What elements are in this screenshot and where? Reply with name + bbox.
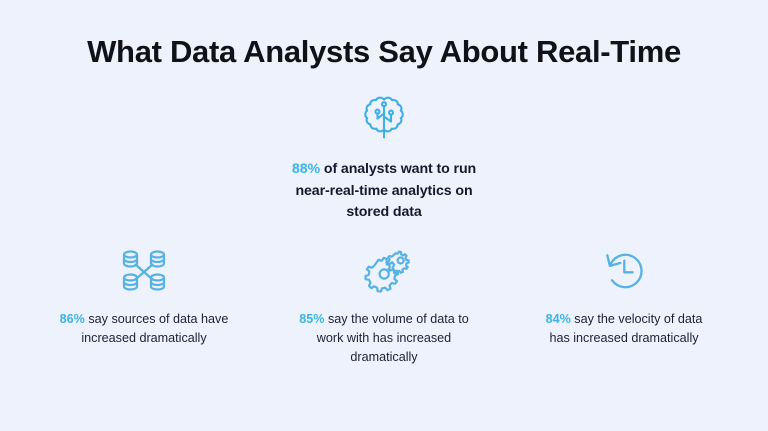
page-title: What Data Analysts Say About Real-Time: [0, 33, 768, 71]
stat-card-sources: 86% say sources of data have increased d…: [46, 243, 242, 367]
stat-card-volume: 85% say the volume of data to work with …: [286, 243, 482, 367]
stat-percent-sources: 86%: [60, 312, 85, 326]
stat-statement-sources: say sources of data have increased drama…: [81, 312, 228, 345]
stat-statement-velocity: say the velocity of data has increased d…: [549, 312, 702, 345]
hero-percent: 88%: [292, 161, 320, 177]
stat-text-sources: 86% say sources of data have increased d…: [55, 310, 233, 348]
hero-stat-text: 88% of analysts want to run near-real-ti…: [277, 159, 492, 224]
stat-text-velocity: 84% say the velocity of data has increas…: [535, 310, 713, 348]
hero-stat-block: 88% of analysts want to run near-real-ti…: [259, 92, 509, 224]
stats-row: 86% say sources of data have increased d…: [0, 243, 768, 367]
page-title-container: What Data Analysts Say About Real-Time: [0, 33, 768, 71]
stat-icon-container: [286, 243, 482, 301]
stat-percent-velocity: 84%: [546, 312, 571, 326]
clock-rewind-icon: [596, 244, 652, 300]
brain-circuit-icon: [357, 92, 411, 144]
stat-percent-volume: 85%: [299, 312, 324, 326]
stat-card-velocity: 84% say the velocity of data has increas…: [526, 243, 722, 367]
stat-icon-container: [526, 243, 722, 301]
hero-statement: of analysts want to run near-real-time a…: [295, 161, 476, 220]
connected-databases-icon: [116, 244, 172, 300]
stat-text-volume: 85% say the volume of data to work with …: [295, 310, 473, 367]
gears-icon: [356, 244, 412, 300]
infographic-canvas: What Data Analysts Say About Real-Time 8…: [0, 0, 768, 431]
stat-icon-container: [46, 243, 242, 301]
stat-statement-volume: say the volume of data to work with has …: [317, 312, 469, 364]
